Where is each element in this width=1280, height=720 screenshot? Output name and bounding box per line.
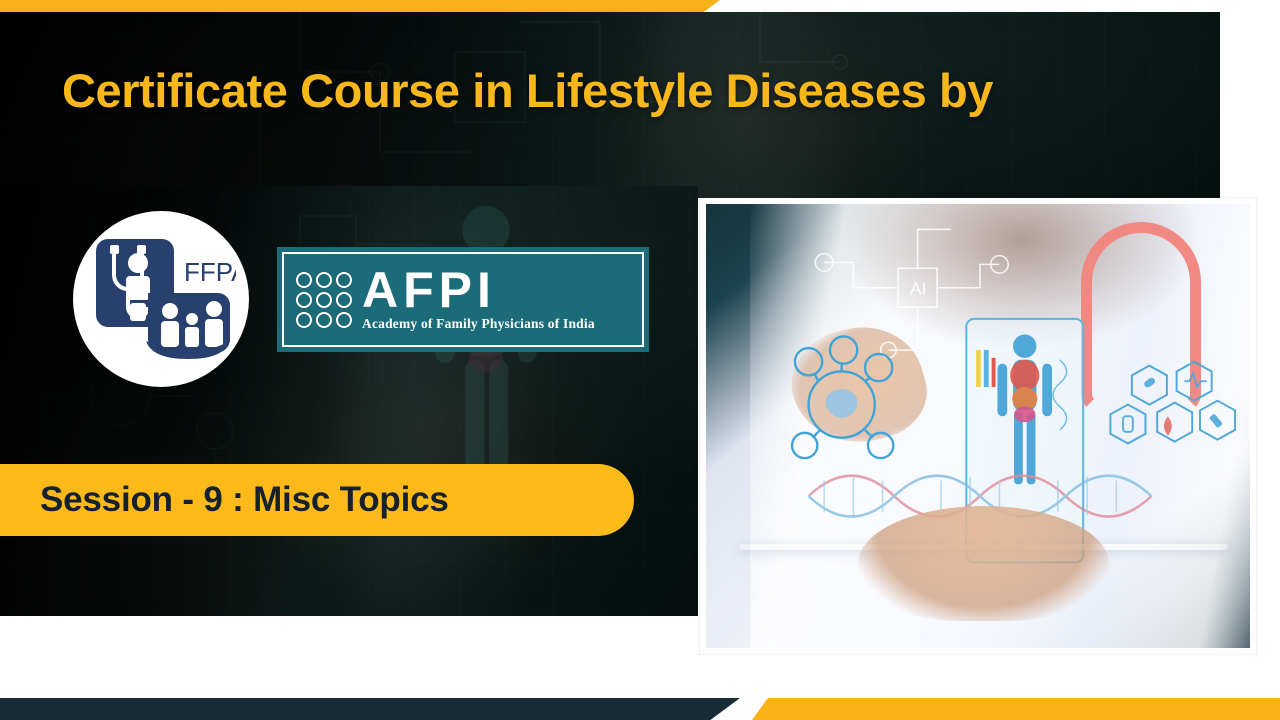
stethoscope-family-icon: FFPAI bbox=[86, 233, 236, 365]
afpi-wordmark: AFPI bbox=[362, 267, 632, 313]
bottom-accent-dark-segment bbox=[0, 698, 740, 720]
afpi-dot-grid-icon bbox=[296, 272, 352, 328]
doctor-ai-interface-icon: AI bbox=[706, 204, 1250, 648]
session-label: Session - 9 : Misc Topics bbox=[40, 480, 449, 520]
ai-label: AI bbox=[910, 279, 927, 299]
slide-canvas: Certificate Course in Lifestyle Diseases… bbox=[0, 0, 1280, 720]
afpi-logo: AFPI Academy of Family Physicians of Ind… bbox=[277, 247, 649, 352]
feature-photo-frame: AI bbox=[700, 198, 1256, 654]
bottom-accent-bar bbox=[0, 698, 1280, 720]
open-hand-shape bbox=[858, 506, 1108, 621]
ffpai-logo: FFPAI bbox=[73, 211, 249, 387]
bottom-accent-yellow-segment bbox=[752, 698, 1280, 720]
afpi-tagline: Academy of Family Physicians of India bbox=[362, 316, 632, 332]
session-banner: Session - 9 : Misc Topics bbox=[0, 464, 634, 536]
ffpai-wordmark: FFPAI bbox=[184, 257, 236, 287]
page-title: Certificate Course in Lifestyle Diseases… bbox=[62, 66, 1272, 116]
